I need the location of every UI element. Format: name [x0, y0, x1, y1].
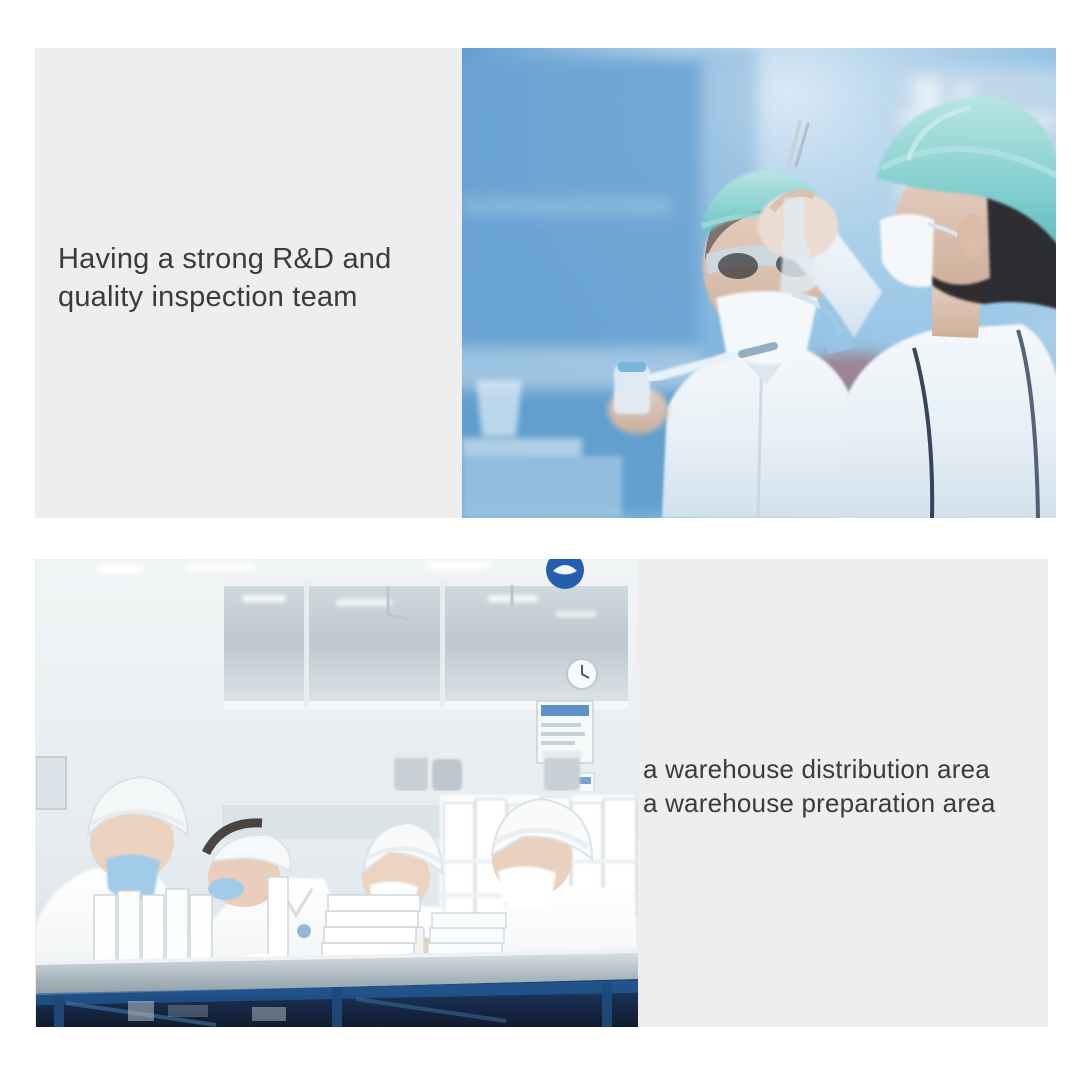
section-warehouse-caption: a warehouse distribution area a warehous… [643, 752, 1043, 820]
section-rnd-caption: Having a strong R&D and quality inspecti… [58, 240, 458, 316]
warehouse-packing-photo [36, 559, 638, 1027]
lab-technicians-photo-graphic [462, 48, 1056, 518]
warehouse-packing-photo-graphic [36, 559, 638, 1027]
poster-canvas: Having a strong R&D and quality inspecti… [0, 0, 1080, 1080]
lab-technicians-photo [462, 48, 1056, 518]
